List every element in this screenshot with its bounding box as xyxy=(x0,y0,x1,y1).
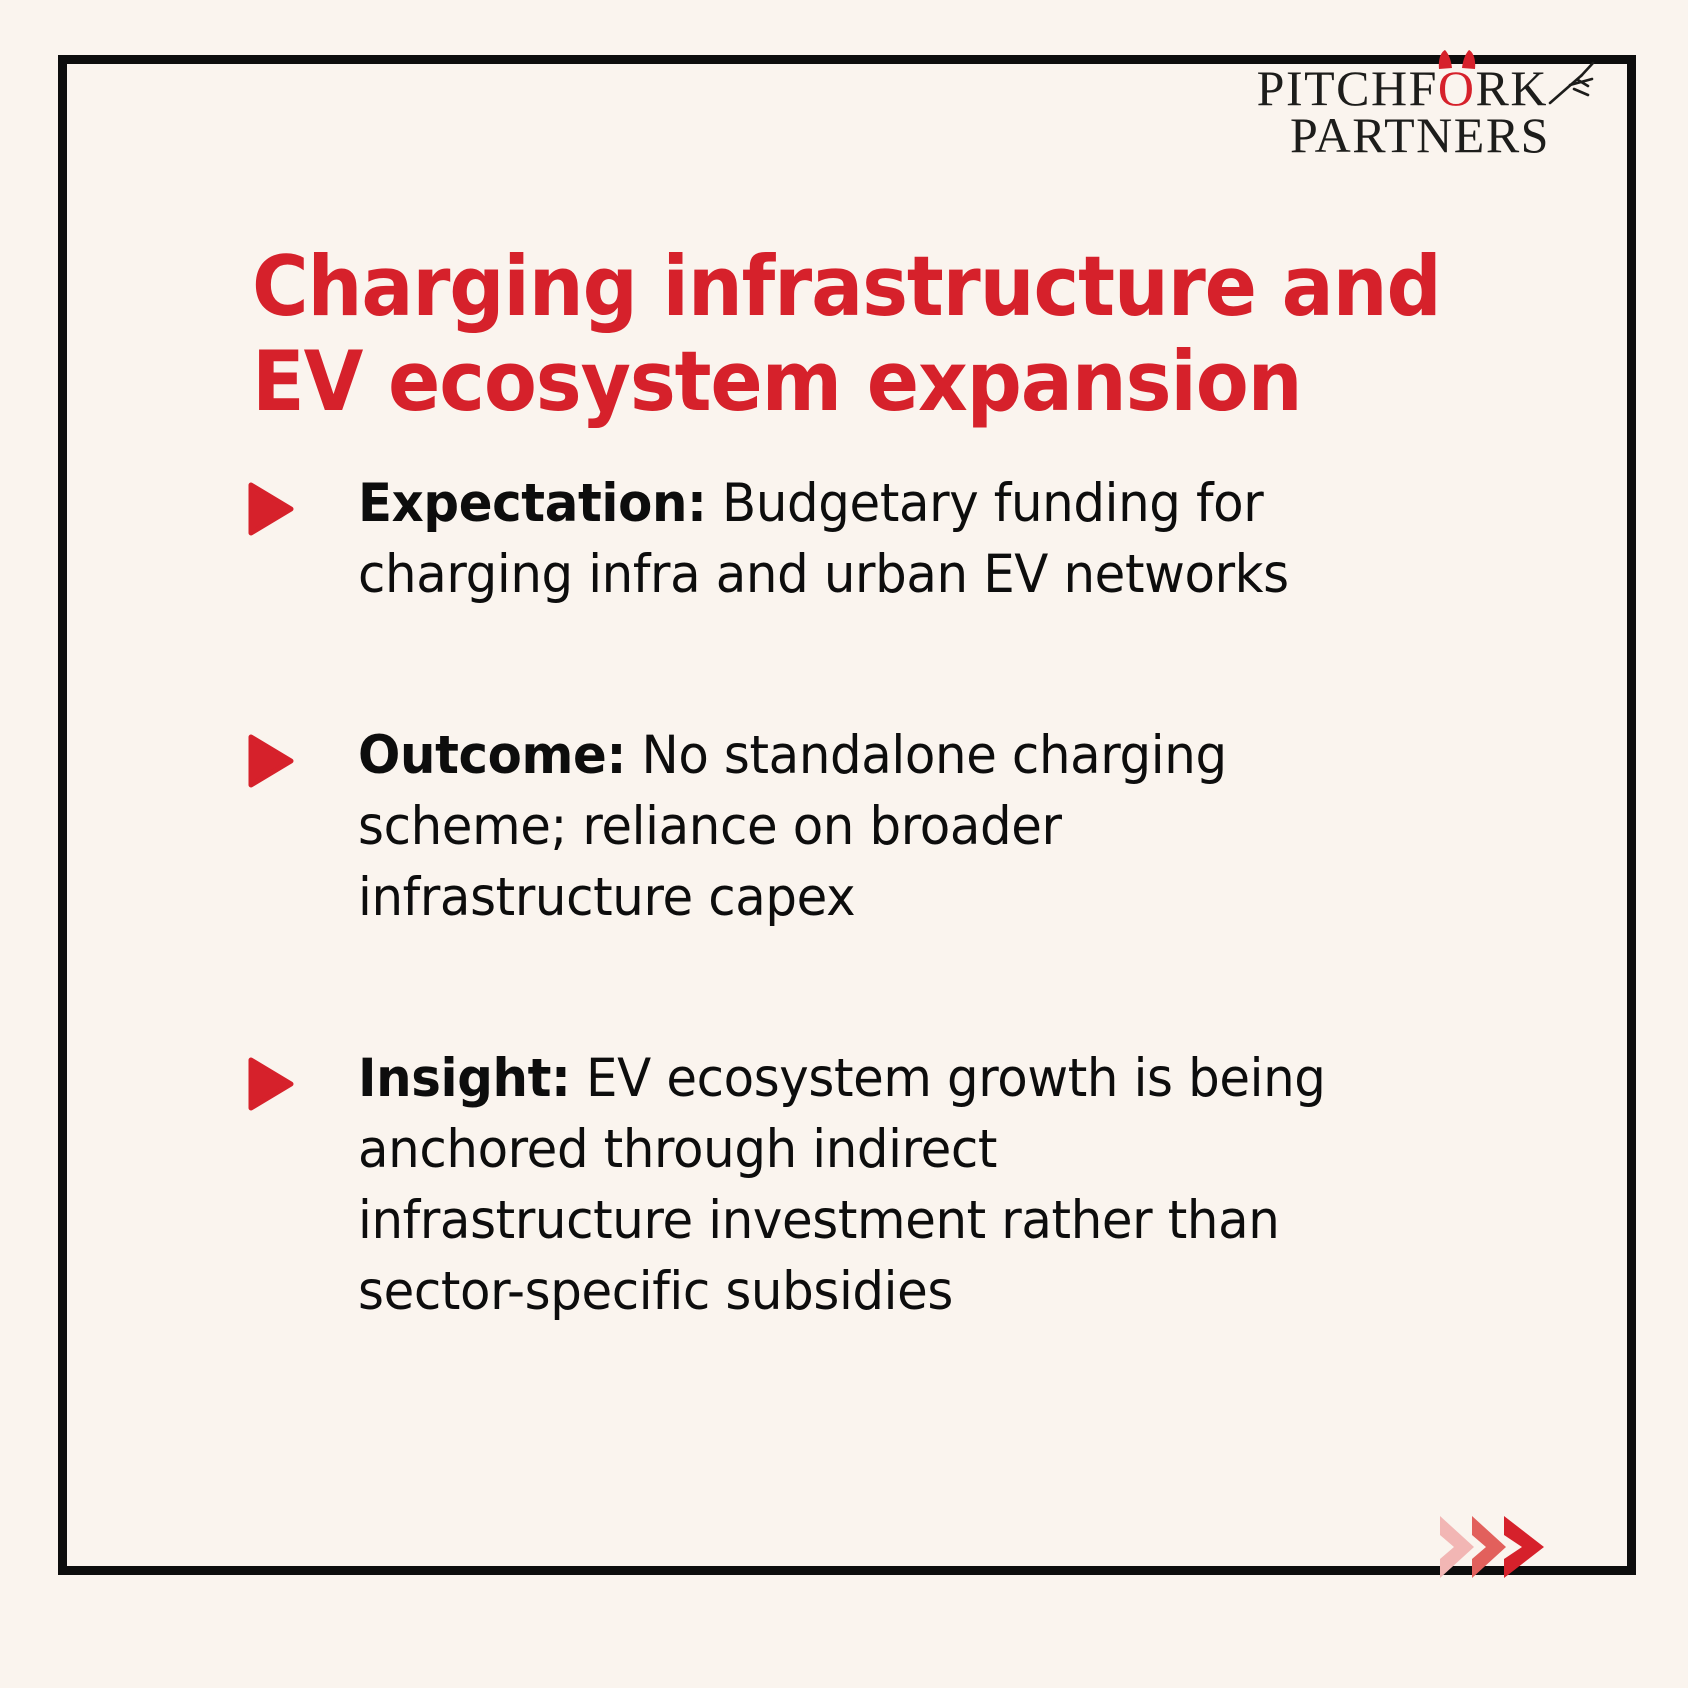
page-title: Charging infrastructure and EV ecosystem… xyxy=(252,240,1294,429)
logo-line-pitchfork: PITCHFO RK xyxy=(1257,65,1550,112)
pitchfork-icon xyxy=(1548,61,1596,105)
logo-line-partners: PARTNERS xyxy=(1257,112,1550,159)
play-triangle-icon xyxy=(248,734,294,788)
list-item: Expectation: Budgetary funding for charg… xyxy=(248,468,1408,610)
list-item: Outcome: No standalone charging scheme; … xyxy=(248,720,1408,933)
list-item: Insight: EV ecosystem growth is being an… xyxy=(248,1043,1408,1327)
list-item-label: Outcome: xyxy=(358,725,626,786)
bullet-list: Expectation: Budgetary funding for charg… xyxy=(248,468,1408,1327)
list-item-label: Expectation: xyxy=(358,473,707,534)
brand-logo: PITCHFO RK PARTNERS xyxy=(1257,65,1550,159)
page-title-line-1: Charging infrastructure and xyxy=(252,240,1294,335)
play-triangle-icon xyxy=(248,1057,294,1111)
chevron-right-solid-icon xyxy=(1500,1514,1548,1580)
slide-canvas: PITCHFO RK PARTNERS Charging infrastruct… xyxy=(0,0,1688,1688)
next-slide-chevrons[interactable] xyxy=(1436,1514,1548,1580)
logo-o-letter: O xyxy=(1438,65,1476,112)
list-item-text: Insight: EV ecosystem growth is being an… xyxy=(358,1043,1345,1327)
list-item-text: Expectation: Budgetary funding for charg… xyxy=(358,468,1345,610)
list-item-label: Insight: xyxy=(358,1048,571,1109)
play-triangle-icon xyxy=(248,482,294,536)
list-item-text: Outcome: No standalone charging scheme; … xyxy=(358,720,1345,933)
page-title-line-2: EV ecosystem expansion xyxy=(252,335,1294,430)
devil-horns-icon xyxy=(1436,50,1478,70)
